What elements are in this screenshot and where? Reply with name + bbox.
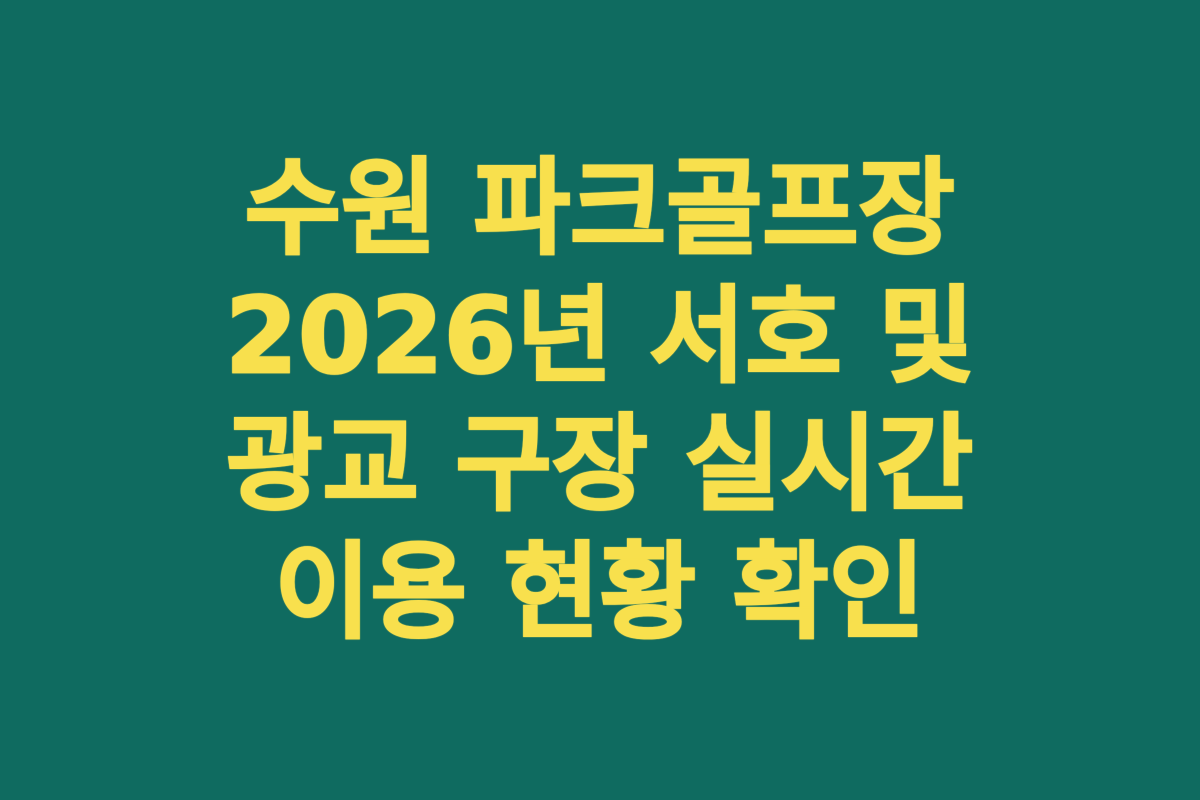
headline-block: 수원 파크골프장 2026년 서호 및 광교 구장 실시간 이용 현황 확인 xyxy=(110,144,1090,656)
thumbnail-banner: 수원 파크골프장 2026년 서호 및 광교 구장 실시간 이용 현황 확인 xyxy=(0,0,1200,800)
banner-headline: 수원 파크골프장 2026년 서호 및 광교 구장 실시간 이용 현황 확인 xyxy=(120,144,1080,656)
